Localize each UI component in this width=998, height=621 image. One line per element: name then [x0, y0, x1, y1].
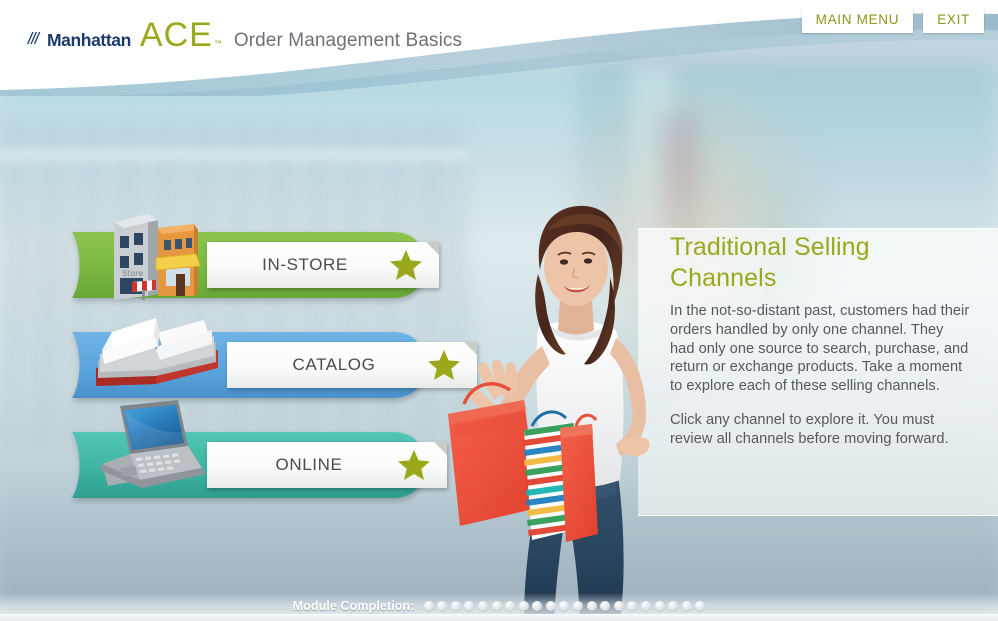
progress-dot	[437, 601, 447, 611]
progress-dot	[573, 601, 583, 611]
trademark-symbol: ™	[214, 39, 222, 48]
progress-dot	[600, 601, 610, 611]
exit-button[interactable]: EXIT	[923, 7, 984, 33]
channel-catalog[interactable]: CATALOG	[72, 330, 427, 400]
module-footer: Module Completion:	[0, 593, 998, 621]
manhattan-mark-icon	[27, 32, 44, 50]
brand-product: ACE	[140, 18, 213, 52]
progress-dots	[424, 601, 706, 611]
progress-dot	[655, 601, 665, 611]
svg-text:Store: Store	[122, 269, 143, 278]
storefront-icon: Store	[96, 204, 206, 307]
main-menu-button[interactable]: MAIN MENU	[802, 7, 914, 33]
page-title: Order Management Basics	[234, 30, 462, 52]
progress-dot	[451, 601, 461, 611]
progress-dot	[627, 601, 637, 611]
brand-name: Manhattan	[47, 30, 131, 51]
progress-dot	[505, 601, 515, 611]
info-panel-content: Traditional Selling Channels In the not-…	[670, 232, 970, 449]
channel-label-online: ONLINE	[207, 455, 397, 475]
progress-dot	[614, 601, 624, 611]
star-icon-in-store	[389, 249, 423, 282]
progress-label: Module Completion:	[293, 599, 415, 613]
progress-dot	[641, 601, 651, 611]
brand-logo: Manhattan ACE ™ Order Management Basics	[0, 18, 462, 52]
laptop-icon	[90, 398, 210, 503]
progress-dot	[546, 601, 556, 611]
progress-dot	[519, 601, 529, 611]
channel-label-in-store: IN-STORE	[207, 255, 389, 275]
info-paragraph-1: In the not-so-distant past, customers ha…	[670, 302, 970, 396]
info-paragraph-2: Click any channel to explore it. You mus…	[670, 411, 970, 449]
progress-dot	[668, 601, 678, 611]
progress-dot	[424, 601, 434, 611]
progress-dot	[682, 601, 692, 611]
channel-tag-in-store[interactable]: IN-STORE	[207, 242, 439, 288]
channel-label-catalog: CATALOG	[227, 355, 427, 375]
progress-dot	[492, 601, 502, 611]
channel-tag-online[interactable]: ONLINE	[207, 442, 447, 488]
module-stage: Manhattan ACE ™ Order Management Basics …	[0, 0, 998, 621]
info-title: Traditional Selling Channels	[670, 232, 970, 293]
progress-dot	[695, 601, 705, 611]
progress-dot	[464, 601, 474, 611]
channel-online[interactable]: ONLINE	[72, 430, 427, 500]
module-completion-progress: Module Completion:	[293, 599, 706, 616]
progress-dot	[478, 601, 488, 611]
progress-dot	[587, 601, 597, 611]
channel-in-store[interactable]: Store	[72, 230, 427, 300]
header-nav-buttons: MAIN MENU EXIT	[802, 7, 984, 33]
progress-dot	[559, 601, 569, 611]
hero-shopper-image	[420, 178, 690, 621]
progress-dot	[532, 601, 542, 611]
